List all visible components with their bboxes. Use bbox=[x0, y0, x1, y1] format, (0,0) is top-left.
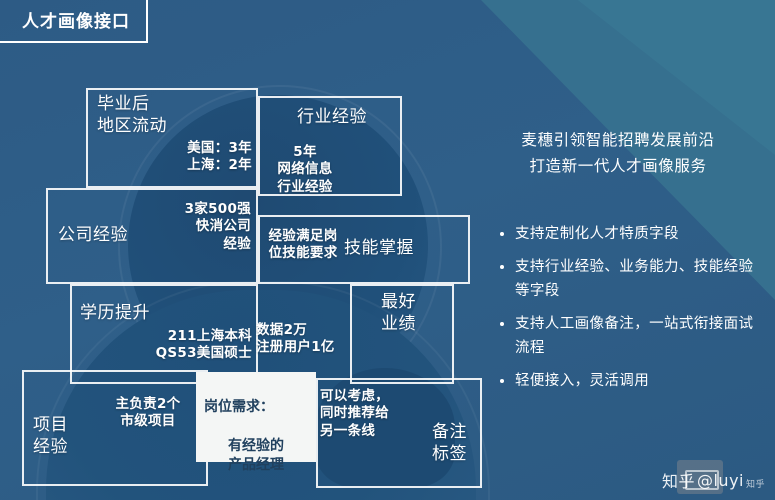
label-industry-experience: 行业经验 bbox=[297, 107, 367, 129]
watermark-handle: @luyi bbox=[697, 471, 744, 490]
label-remark-tag: 备注 标签 bbox=[432, 422, 467, 466]
detail-best-performance: 数据2万 注册用户1亿 bbox=[256, 322, 366, 357]
slide-canvas: 人才画像接口 毕业后 地区流动 行业经验 公司经验 技能掌握 学历提升 最好 业… bbox=[0, 0, 775, 500]
right-panel-heading: 麦穗引领智能招聘发展前沿 打造新一代人才画像服务 bbox=[468, 128, 768, 179]
detail-graduation-mobility: 美国：3年 上海：2年 bbox=[170, 140, 252, 175]
detail-education-upgrade: 211上海本科 QS53美国硕士 bbox=[138, 328, 252, 363]
bullet-item: 轻便接入，灵活调用 bbox=[498, 370, 763, 393]
detail-industry-experience: 5年 网络信息 行业经验 bbox=[262, 144, 348, 196]
detail-skill-mastery: 经验满足岗 位技能要求 bbox=[258, 228, 348, 263]
page-title: 人才画像接口 bbox=[0, 0, 148, 43]
watermark-suffix: 知乎 bbox=[746, 477, 765, 492]
bullet-item: 支持定制化人才特质字段 bbox=[498, 223, 763, 246]
label-best-performance: 最好 业绩 bbox=[381, 292, 416, 336]
label-project-experience: 项目 经验 bbox=[33, 415, 68, 459]
bullet-item: 支持人工画像备注，一站式衔接面试流程 bbox=[498, 313, 763, 360]
bullet-item: 支持行业经验、业务能力、技能经验等字段 bbox=[498, 256, 763, 303]
label-education-upgrade: 学历提升 bbox=[80, 303, 150, 325]
detail-company-experience: 3家500强 快消公司 经验 bbox=[163, 201, 251, 253]
watermark: 知乎 @luyi 知乎 bbox=[662, 468, 765, 492]
right-panel-bullet-list: 支持定制化人才特质字段 支持行业经验、业务能力、技能经验等字段 支持人工画像备注… bbox=[498, 223, 763, 404]
detail-remark-tag: 可以考虑， 同时推荐给 另一条线 bbox=[320, 388, 418, 440]
card-requirement-body: 有经验的 产品经理 bbox=[204, 437, 308, 476]
card-requirement-head: 岗位需求： bbox=[204, 398, 308, 418]
card-position-requirement: 岗位需求： 有经验的 产品经理 bbox=[196, 372, 316, 462]
label-graduation-mobility: 毕业后 地区流动 bbox=[97, 94, 167, 138]
label-company-experience: 公司经验 bbox=[58, 225, 128, 247]
watermark-platform: 知乎 bbox=[662, 468, 695, 492]
label-skill-mastery: 技能掌握 bbox=[344, 238, 414, 260]
detail-project-experience: 主负责2个 市级项目 bbox=[100, 396, 196, 431]
